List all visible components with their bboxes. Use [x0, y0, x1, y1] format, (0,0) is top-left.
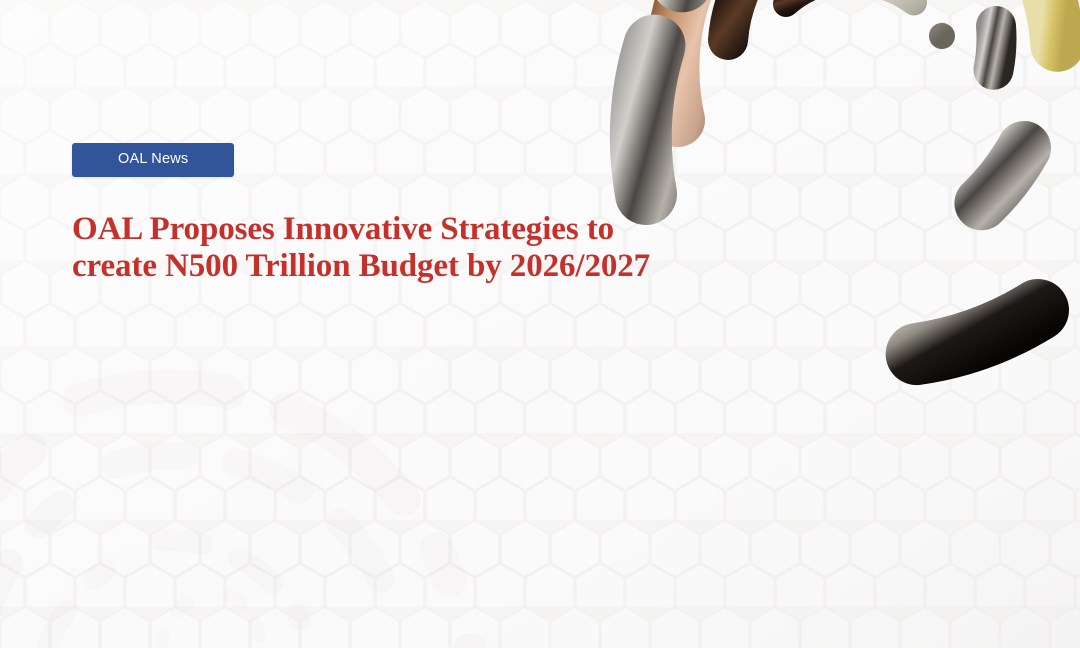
- news-category-badge[interactable]: OAL News: [72, 143, 234, 177]
- headline-line-2: create N500 Trillion Budget by 2026/2027: [72, 248, 792, 285]
- faint-arc-watermark: [0, 250, 550, 648]
- news-banner: OAL News OAL Proposes Innovative Strateg…: [0, 0, 1080, 648]
- honeycomb-background: [0, 0, 1080, 648]
- banner-content: OAL News OAL Proposes Innovative Strateg…: [72, 143, 832, 285]
- headline-line-1: OAL Proposes Innovative Strategies to: [72, 211, 792, 248]
- page-title: OAL Proposes Innovative Strategies to cr…: [72, 211, 792, 285]
